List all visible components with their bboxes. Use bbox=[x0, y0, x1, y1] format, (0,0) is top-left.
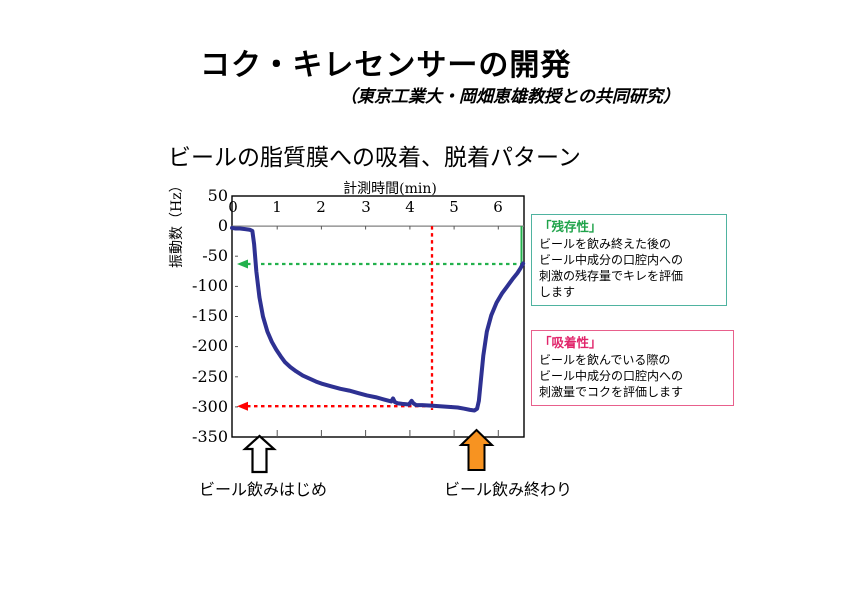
y-tick-label: -200 bbox=[186, 336, 228, 355]
callout-adsorption: 「吸着性」 ビールを飲んでいる際の ビール中成分の口腔内への 刺激量でコクを評価… bbox=[531, 330, 734, 406]
x-tick-label: 4 bbox=[400, 198, 420, 216]
callout-retention-line: します bbox=[539, 284, 720, 300]
x-tick-label: 2 bbox=[311, 198, 331, 216]
y-tick-label: 0 bbox=[186, 216, 228, 235]
callout-adsorption-title: 「吸着性」 bbox=[539, 335, 727, 351]
x-tick-label: 6 bbox=[488, 198, 508, 216]
callout-retention-line: 刺激の残存量でキレを評価 bbox=[539, 268, 720, 284]
x-tick-label: 1 bbox=[267, 198, 287, 216]
y-tick-label: -300 bbox=[186, 397, 228, 416]
x-tick-label: 0 bbox=[223, 198, 243, 216]
y-axis-title: 振動数（Hz） bbox=[166, 178, 186, 268]
x-tick-label: 5 bbox=[444, 198, 464, 216]
callout-adsorption-line: ビールを飲んでいる際の bbox=[539, 352, 727, 368]
slide-canvas: コク・キレセンサーの開発 （東京工業大・岡畑恵雄教授との共同研究） ビールの脂質… bbox=[0, 0, 841, 595]
callout-retention-line: ビールを飲み終えた後の bbox=[539, 236, 720, 252]
y-tick-label: -100 bbox=[186, 276, 228, 295]
start-arrow-icon bbox=[245, 436, 274, 472]
callout-retention: 「残存性」 ビールを飲み終えた後の ビール中成分の口腔内への 刺激の残存量でキレ… bbox=[531, 214, 727, 306]
y-tick-label: -50 bbox=[186, 246, 228, 265]
x-tick-label: 3 bbox=[356, 198, 376, 216]
callout-retention-title: 「残存性」 bbox=[539, 219, 720, 235]
callout-adsorption-line: ビール中成分の口腔内への bbox=[539, 368, 727, 384]
callout-retention-line: ビール中成分の口腔内への bbox=[539, 252, 720, 268]
x-axis-title: 計測時間(min) bbox=[300, 178, 480, 198]
y-tick-label: -350 bbox=[186, 427, 228, 446]
y-tick-label: -250 bbox=[186, 367, 228, 386]
y-tick-label: 50 bbox=[186, 186, 228, 205]
start-arrow-label: ビール飲みはじめ bbox=[199, 476, 327, 500]
end-arrow-label: ビール飲み終わり bbox=[444, 476, 572, 500]
callout-adsorption-line: 刺激量でコクを評価します bbox=[539, 384, 727, 400]
y-tick-label: -150 bbox=[186, 306, 228, 325]
